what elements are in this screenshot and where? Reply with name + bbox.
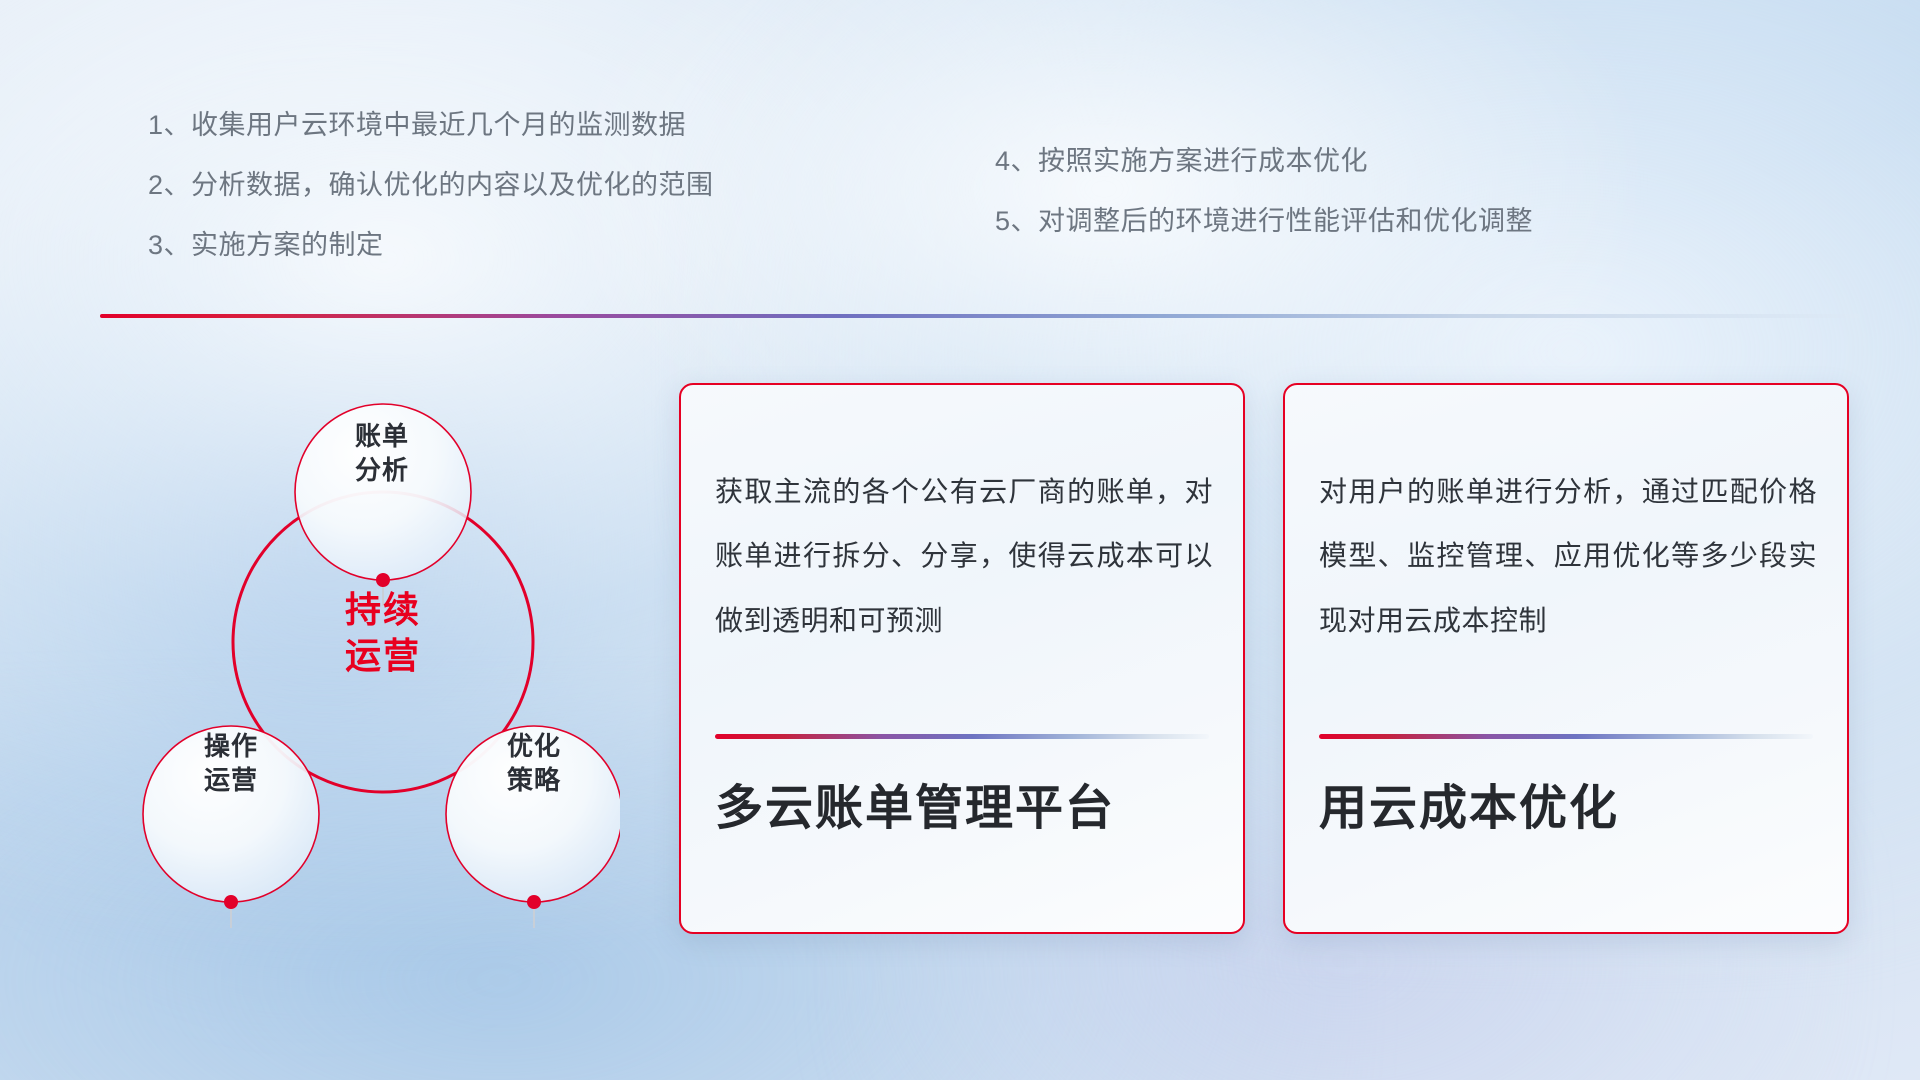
feature-card-multicloud-billing[interactable]: 获取主流的各个公有云厂商的账单，对账单进行拆分、分享，使得云成本可以做到透明和可…	[679, 383, 1245, 934]
diagram-node-left	[224, 895, 238, 909]
diagram-node-top	[376, 573, 390, 587]
feature-card-title: 多云账单管理平台	[715, 780, 1213, 838]
feature-card-body: 获取主流的各个公有云厂商的账单，对账单进行拆分、分享，使得云成本可以做到透明和可…	[715, 460, 1213, 653]
feature-card-body: 对用户的账单进行分析，通过匹配价格模型、监控管理、应用优化等多少段实现对用云成本…	[1319, 460, 1817, 653]
feature-card-rule	[1319, 734, 1813, 739]
diagram-center-line1: 持续	[298, 587, 468, 633]
feature-card-rule	[715, 734, 1209, 739]
diagram-lobe-left-line2: 运营	[147, 764, 315, 798]
diagram-center-line2: 运营	[298, 633, 468, 679]
gradient-divider	[100, 314, 1860, 318]
continuous-operation-diagram: 账单 分析 操作 运营 优化 策略 持续 运营	[100, 352, 620, 942]
diagram-lobe-right-line1: 优化	[450, 730, 618, 764]
steps-column-left: 1、收集用户云环境中最近几个月的监测数据 2、分析数据，确认优化的内容以及优化的…	[148, 112, 868, 292]
diagram-lobe-label-top: 账单 分析	[298, 420, 466, 488]
diagram-lobe-right-line2: 策略	[450, 764, 618, 798]
steps-column-right: 4、按照实施方案进行成本优化 5、对调整后的环境进行性能评估和优化调整	[995, 148, 1755, 268]
diagram-center-label: 持续 运营	[298, 587, 468, 679]
diagram-lobe-left-line1: 操作	[147, 730, 315, 764]
diagram-lobe-top-line1: 账单	[298, 420, 466, 454]
step-item-1: 1、收集用户云环境中最近几个月的监测数据	[148, 112, 868, 139]
step-item-4: 4、按照实施方案进行成本优化	[995, 148, 1755, 175]
feature-card-cost-optimization[interactable]: 对用户的账单进行分析，通过匹配价格模型、监控管理、应用优化等多少段实现对用云成本…	[1283, 383, 1849, 934]
step-item-5: 5、对调整后的环境进行性能评估和优化调整	[995, 208, 1755, 235]
step-item-2: 2、分析数据，确认优化的内容以及优化的范围	[148, 172, 868, 199]
diagram-lobe-label-left: 操作 运营	[147, 730, 315, 798]
diagram-lobe-top-line2: 分析	[298, 454, 466, 488]
step-item-3: 3、实施方案的制定	[148, 232, 868, 259]
diagram-lobe-label-right: 优化 策略	[450, 730, 618, 798]
diagram-node-right	[527, 895, 541, 909]
feature-card-title: 用云成本优化	[1319, 780, 1817, 838]
